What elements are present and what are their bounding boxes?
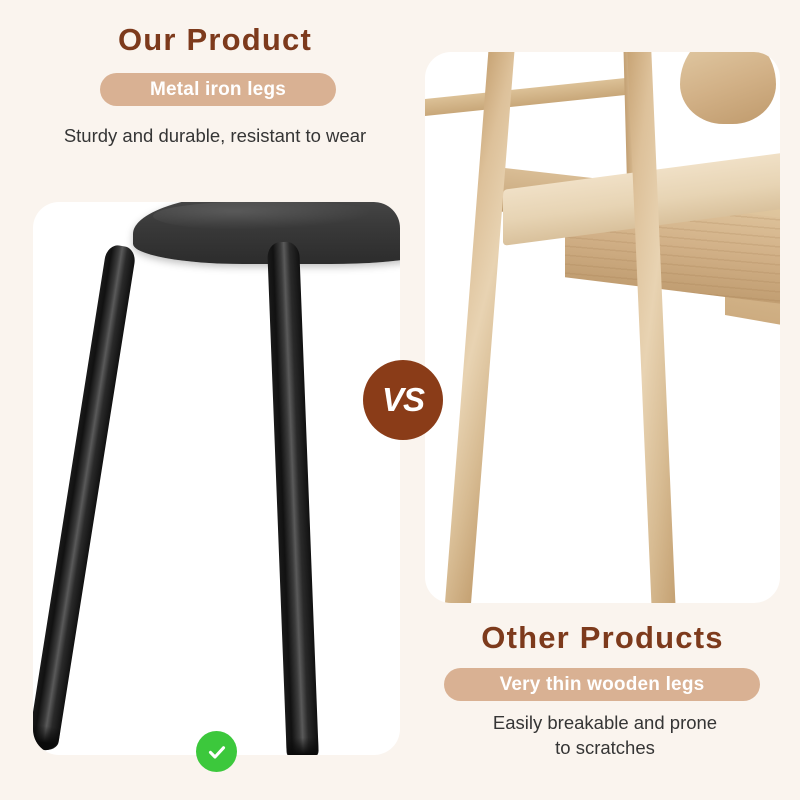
check-circle-icon <box>196 731 237 772</box>
other-products-badge-label: Very thin wooden legs <box>500 674 705 696</box>
other-products-badge: Very thin wooden legs <box>444 668 760 701</box>
wood-leg-back <box>627 52 676 603</box>
other-products-photo-card <box>425 52 780 603</box>
versus-label: VS <box>382 381 424 419</box>
wood-leg-front <box>444 52 515 603</box>
our-product-badge: Metal iron legs <box>100 73 336 106</box>
other-products-subtitle: Easily breakable and prone to scratches <box>420 710 790 760</box>
metal-leg-left <box>33 244 137 752</box>
our-product-badge-label: Metal iron legs <box>150 79 286 101</box>
metal-leg-tip-left <box>33 724 61 752</box>
versus-badge: VS <box>363 360 443 440</box>
wood-backrest <box>680 52 776 124</box>
our-product-title: Our Product <box>30 22 400 58</box>
metal-leg-tip-right <box>286 737 319 755</box>
our-product-photo-card <box>33 202 400 755</box>
other-products-title: Other Products <box>415 620 790 656</box>
metal-leg-right <box>267 241 319 755</box>
comparison-infographic: Our Product Metal iron legs Sturdy and d… <box>0 0 800 800</box>
wood-back-rail <box>425 77 635 116</box>
our-product-subtitle: Sturdy and durable, resistant to wear <box>25 123 405 148</box>
dark-seat-cushion <box>133 202 400 264</box>
